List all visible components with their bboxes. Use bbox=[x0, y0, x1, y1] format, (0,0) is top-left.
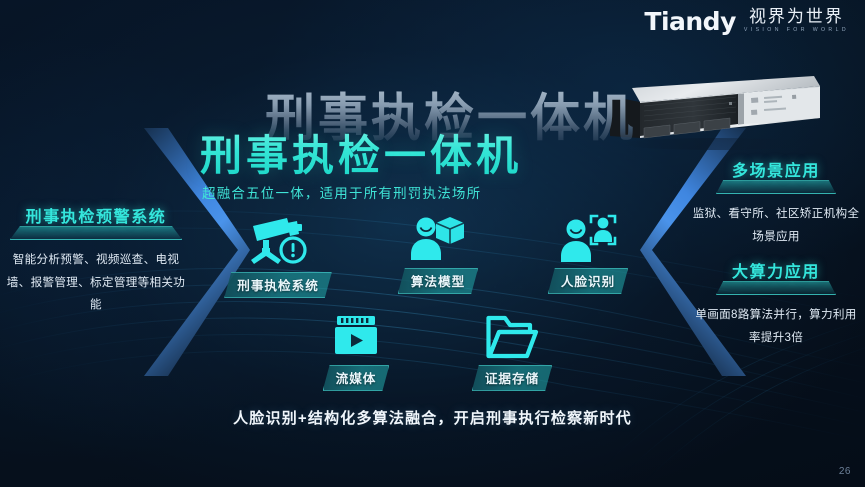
page-subtitle: 超融合五位一体，适用于所有刑罚执法场所 bbox=[202, 182, 481, 202]
feature-label: 证据存储 bbox=[472, 365, 552, 391]
page-number: 26 bbox=[839, 466, 851, 477]
panel-heading-platform: 大算力应用 bbox=[716, 258, 836, 295]
feature-label: 算法模型 bbox=[398, 268, 478, 294]
brand-logo: Tiandy 视界为世界 VISION FOR WORLD bbox=[644, 8, 849, 34]
panel-heading-platform: 刑事执检预警系统 bbox=[10, 203, 183, 240]
feature-label: 人脸识别 bbox=[548, 268, 628, 294]
feature-evidence-storage[interactable]: 证据存储 bbox=[452, 313, 572, 391]
person-cube-icon bbox=[409, 214, 467, 264]
media-player-icon bbox=[331, 313, 381, 361]
feature-label: 刑事执检系统 bbox=[224, 272, 332, 298]
feature-label: 流媒体 bbox=[323, 365, 390, 391]
feature-tag: 刑事执检系统 bbox=[224, 272, 332, 298]
brand-slogan: 视界为世界 VISION FOR WORLD bbox=[744, 8, 849, 34]
panel-multi-scenario: 多场景应用 监狱、看守所、社区矫正机构全场景应用 bbox=[690, 157, 862, 248]
feature-tag: 流媒体 bbox=[323, 365, 390, 391]
panel-heading: 多场景应用 bbox=[720, 157, 832, 185]
panel-heading: 大算力应用 bbox=[720, 258, 832, 286]
panel-compute-power: 大算力应用 单画面8路算法并行，算力利用率提升3倍 bbox=[690, 258, 862, 349]
feature-tag: 人脸识别 bbox=[548, 268, 628, 294]
page-title: 刑事执检一体机 bbox=[200, 122, 522, 183]
person-face-scan-icon bbox=[559, 214, 617, 264]
panel-heading-platform: 多场景应用 bbox=[716, 157, 836, 194]
panel-body-text: 智能分析预警、视频巡查、电视墙、报警管理、标定管理等相关功能 bbox=[2, 249, 190, 317]
panel-body-text: 单画面8路算法并行，算力利用率提升3倍 bbox=[690, 304, 862, 349]
panel-warning-system: 刑事执检预警系统 智能分析预警、视频巡查、电视墙、报警管理、标定管理等相关功能 bbox=[2, 203, 190, 317]
panel-body-text: 监狱、看守所、社区矫正机构全场景应用 bbox=[690, 203, 862, 248]
feature-algorithm-model[interactable]: 算法模型 bbox=[378, 214, 498, 294]
footer-tagline: 人脸识别+结构化多算法融合，开启刑事执行检察新时代 bbox=[0, 407, 865, 428]
cctv-camera-alert-icon bbox=[247, 212, 309, 268]
slide-root: Tiandy 视界为世界 VISION FOR WORLD bbox=[0, 0, 865, 487]
folder-icon bbox=[485, 313, 539, 361]
panel-heading: 刑事执检预警系统 bbox=[14, 203, 179, 231]
feature-face-recognition[interactable]: 人脸识别 bbox=[528, 214, 648, 294]
feature-criminal-inspection-system[interactable]: 刑事执检系统 bbox=[218, 212, 338, 298]
brand-slogan-cn: 视界为世界 bbox=[749, 8, 844, 25]
brand-name: Tiandy bbox=[644, 9, 735, 34]
feature-streaming-media[interactable]: 流媒体 bbox=[296, 313, 416, 391]
feature-tag: 算法模型 bbox=[398, 268, 478, 294]
brand-slogan-en: VISION FOR WORLD bbox=[744, 28, 849, 33]
feature-tag: 证据存储 bbox=[472, 365, 552, 391]
